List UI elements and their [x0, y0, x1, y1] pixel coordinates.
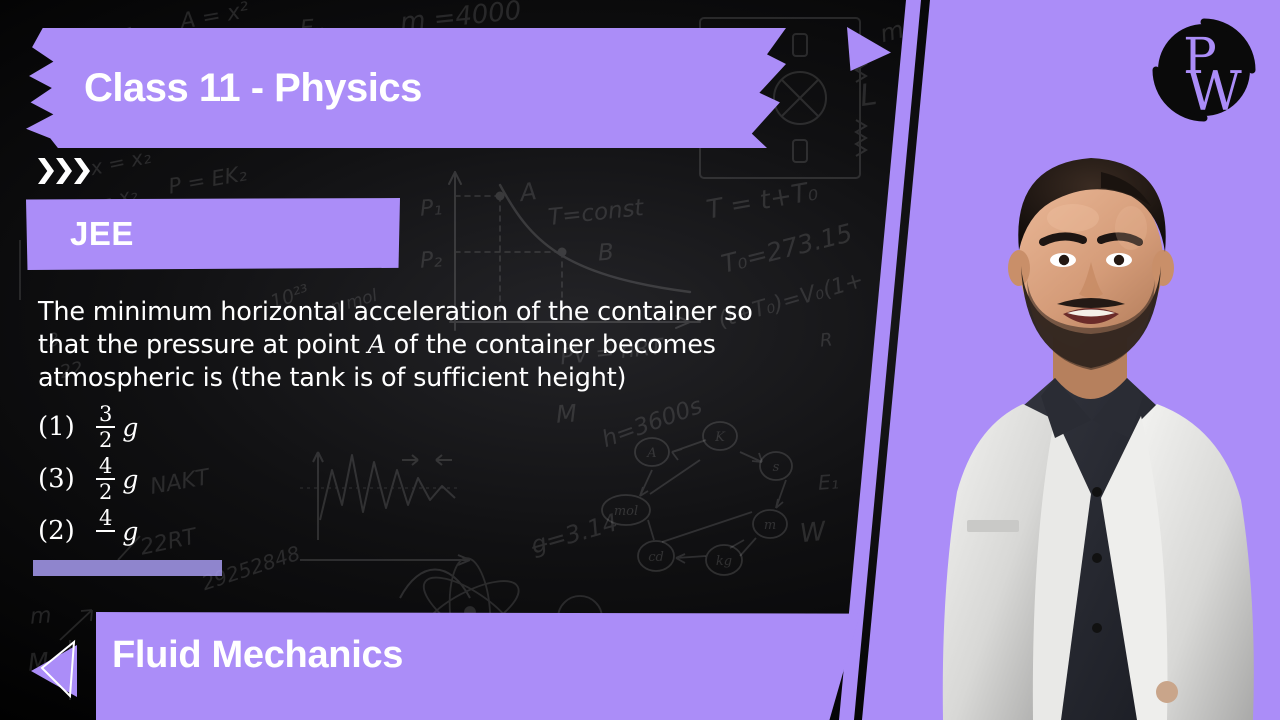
answer-option[interactable]: (3) 4 2 g — [38, 453, 798, 505]
answer-option[interactable]: (2) 4 g — [38, 505, 798, 557]
option-variable: g — [122, 465, 138, 494]
question-block: The minimum horizontal acceleration of t… — [38, 296, 798, 557]
answer-option[interactable]: (1) 3 2 g — [38, 401, 798, 453]
question-text: The minimum horizontal acceleration of t… — [38, 296, 798, 395]
option-label: (2) — [38, 516, 96, 546]
double-chevron-right-icon — [38, 158, 90, 184]
presenter-photo — [905, 120, 1280, 720]
fraction-denominator: 2 — [96, 429, 115, 451]
chevron-right-icon — [74, 158, 90, 184]
topic-label: Fluid Mechanics — [112, 634, 403, 677]
triangle-left-outline-icon — [40, 638, 78, 700]
answer-options-list: (1) 3 2 g (3) 4 2 g (2) — [38, 401, 798, 557]
topic-banner: Fluid Mechanics — [96, 612, 860, 720]
fraction-numerator: 4 — [96, 455, 115, 477]
option-fraction: 4 — [96, 507, 115, 555]
answer-highlight-bar — [33, 560, 222, 576]
option-label: (1) — [38, 412, 96, 442]
fraction-numerator: 4 — [96, 507, 115, 529]
fraction-denominator: 2 — [96, 481, 115, 503]
chevron-right-icon — [56, 158, 72, 184]
option-variable: g — [122, 517, 138, 546]
option-fraction: 4 2 — [96, 455, 115, 503]
fraction-denominator — [99, 533, 112, 555]
question-point-label: A — [368, 330, 386, 360]
option-variable: g — [122, 413, 138, 442]
page-title: Class 11 - Physics — [84, 66, 422, 111]
exam-badge: JEE — [26, 198, 400, 270]
slide-root: m =4000mgLA = x²EₓFP₁P₂AT=constBT = t+T₀… — [0, 0, 1280, 720]
class-title-banner: Class 11 - Physics — [26, 28, 786, 148]
pw-logo: P W — [1152, 18, 1256, 122]
pw-logo-letter-w: W — [1186, 60, 1242, 122]
option-fraction: 3 2 — [96, 403, 115, 451]
exam-badge-label: JEE — [70, 215, 134, 253]
option-label: (3) — [38, 464, 96, 494]
fraction-numerator: 3 — [96, 403, 115, 425]
chevron-right-icon — [38, 158, 54, 184]
